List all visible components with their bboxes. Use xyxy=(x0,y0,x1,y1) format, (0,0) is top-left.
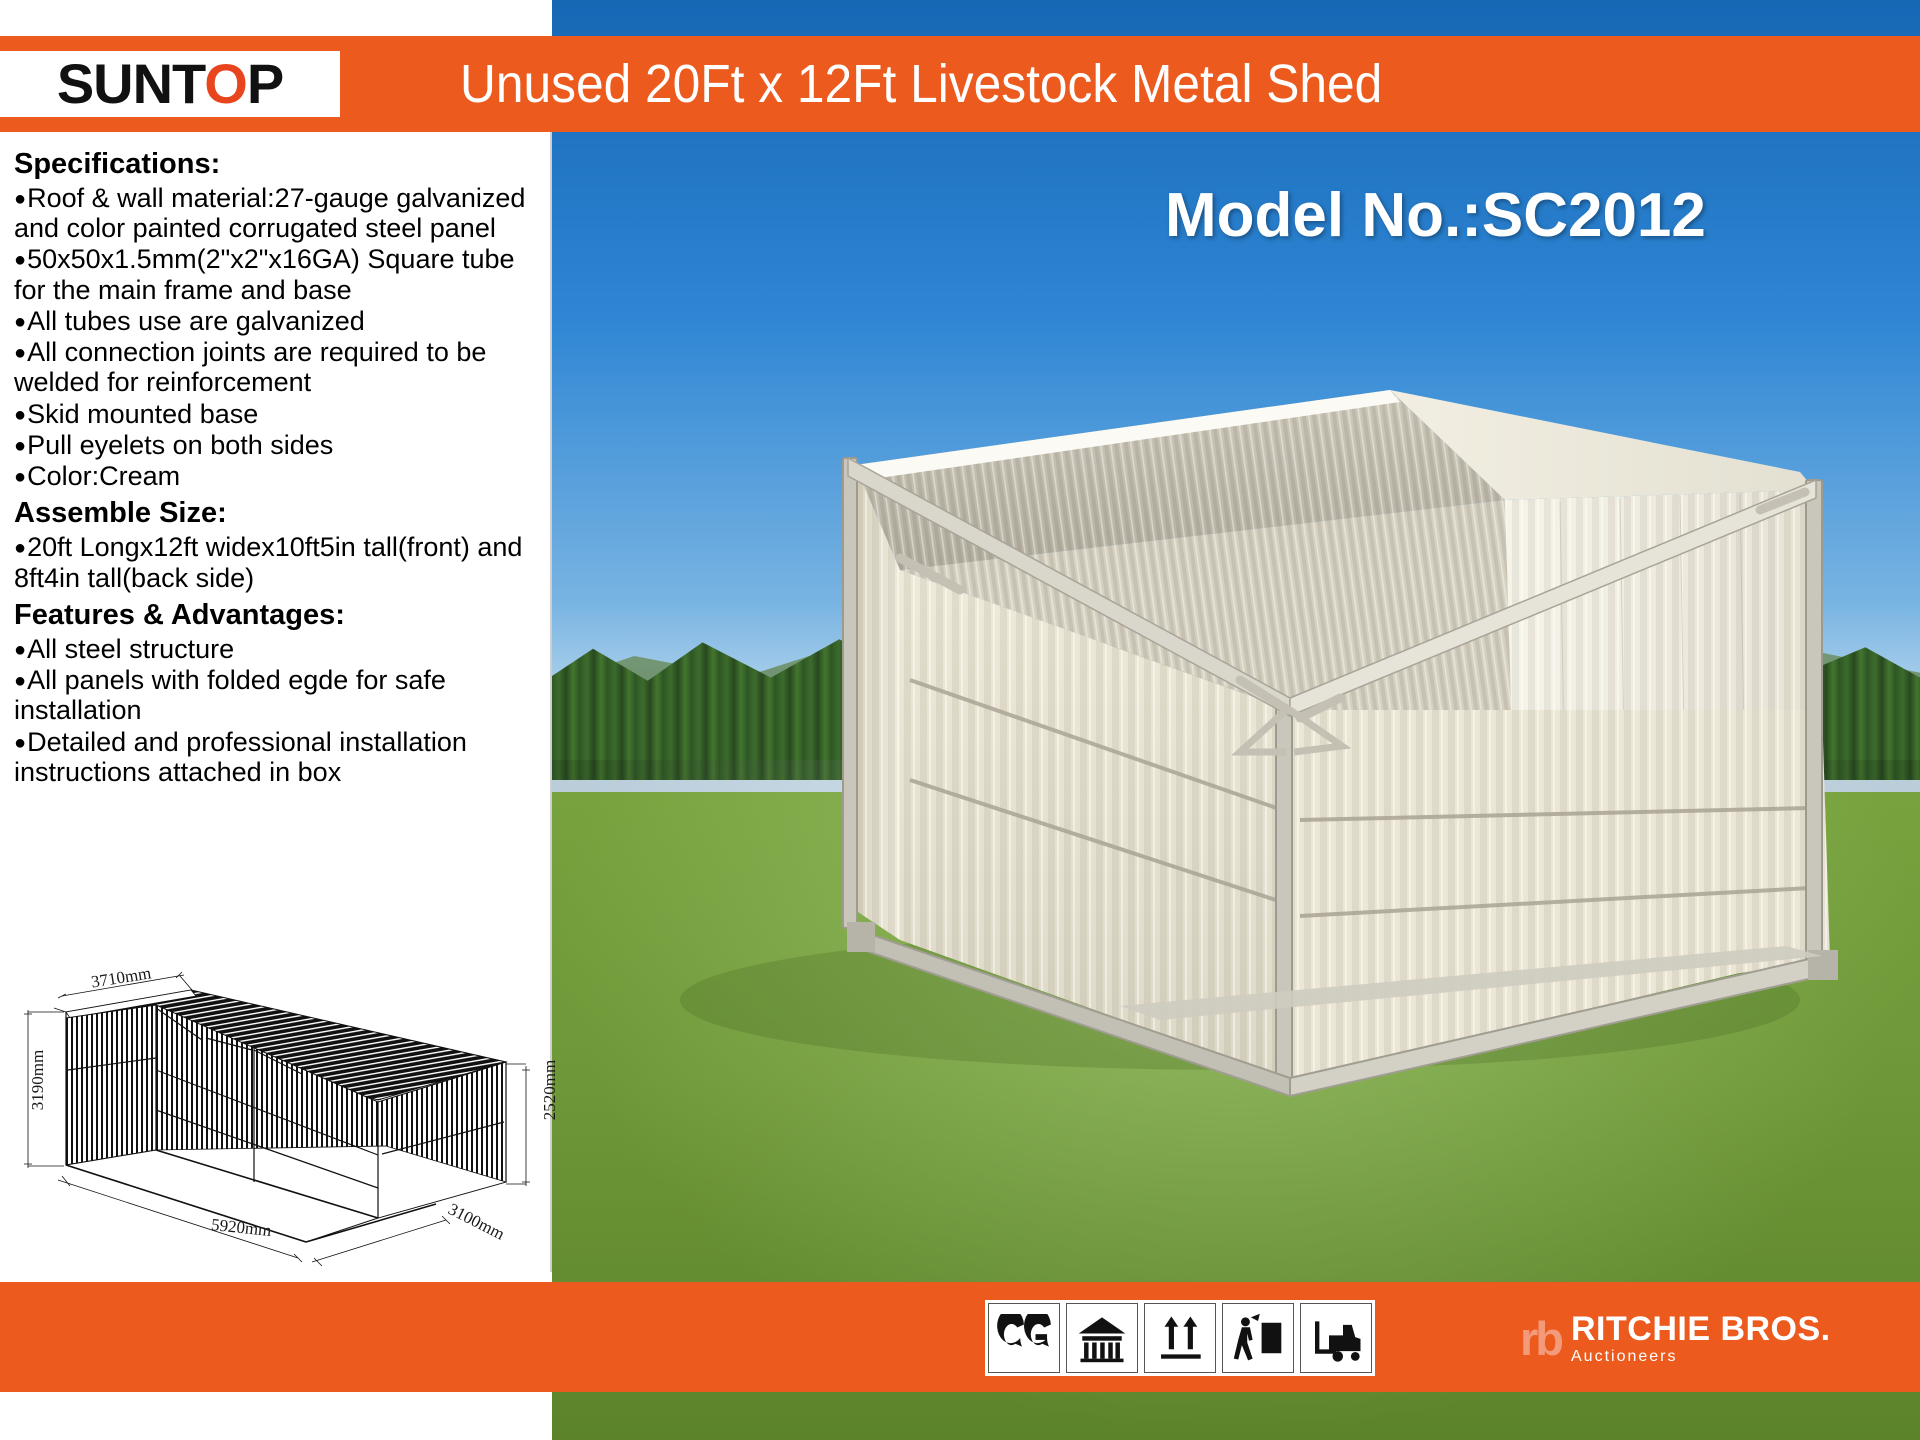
rb-mark: rb xyxy=(1520,1315,1561,1362)
list-item: Pull eyelets on both sides xyxy=(14,430,540,460)
footer-white-strip xyxy=(0,1392,552,1440)
list-item: All steel structure xyxy=(14,634,540,664)
rb-name: RITCHIE BROS. xyxy=(1571,1312,1831,1346)
technical-drawing: 3710mm 5920mm 3100mm 3190mm 2520mm xyxy=(6,950,552,1270)
specifications-list: Roof & wall material:27-gauge galvanized… xyxy=(14,183,540,491)
specifications-heading: Specifications: xyxy=(14,148,540,181)
footer-bar-left xyxy=(0,1282,552,1392)
list-item: All connection joints are required to be… xyxy=(14,337,540,397)
ritchie-bros-logo: rb RITCHIE BROS. Auctioneers xyxy=(1520,1295,1900,1381)
list-item: Skid mounted base xyxy=(14,399,540,429)
ce-mark-icon xyxy=(988,1303,1060,1373)
list-item: Detailed and professional installation i… xyxy=(14,727,540,787)
keep-dry-shelter-icon xyxy=(1066,1303,1138,1373)
handle-with-care-icon xyxy=(1222,1303,1294,1373)
list-item: All panels with folded egde for safe ins… xyxy=(14,665,540,725)
dimension-height-front: 3190mm xyxy=(28,1050,48,1110)
suntop-logo: SUNTOP xyxy=(0,51,340,117)
list-item: 50x50x1.5mm(2"x2"x16GA) Square tube for … xyxy=(14,244,540,304)
list-item: Roof & wall material:27-gauge galvanized… xyxy=(14,183,540,243)
list-item: Color:Cream xyxy=(14,461,540,491)
forklift-icon xyxy=(1300,1303,1372,1373)
model-number: Model No.:SC2012 xyxy=(1165,180,1706,251)
features-list: All steel structure All panels with fold… xyxy=(14,634,540,787)
page-title: Unused 20Ft x 12Ft Livestock Metal Shed xyxy=(460,44,1748,124)
list-item: All tubes use are galvanized xyxy=(14,306,540,336)
rb-subtitle: Auctioneers xyxy=(1571,1349,1831,1365)
product-spec-sheet: SUNTOP Unused 20Ft x 12Ft Livestock Meta… xyxy=(0,0,1920,1440)
this-way-up-icon xyxy=(1144,1303,1216,1373)
list-item: 20ft Longx12ft widex10ft5in tall(front) … xyxy=(14,532,540,592)
dimension-height-back: 2520mm xyxy=(540,1060,560,1120)
suntop-logo-text: SUNTOP xyxy=(57,56,283,112)
certification-icons xyxy=(985,1300,1375,1376)
assemble-size-heading: Assemble Size: xyxy=(14,497,540,530)
assemble-size-list: 20ft Longx12ft widex10ft5in tall(front) … xyxy=(14,532,540,592)
shed-product-render xyxy=(600,380,1860,1180)
features-heading: Features & Advantages: xyxy=(14,599,540,632)
